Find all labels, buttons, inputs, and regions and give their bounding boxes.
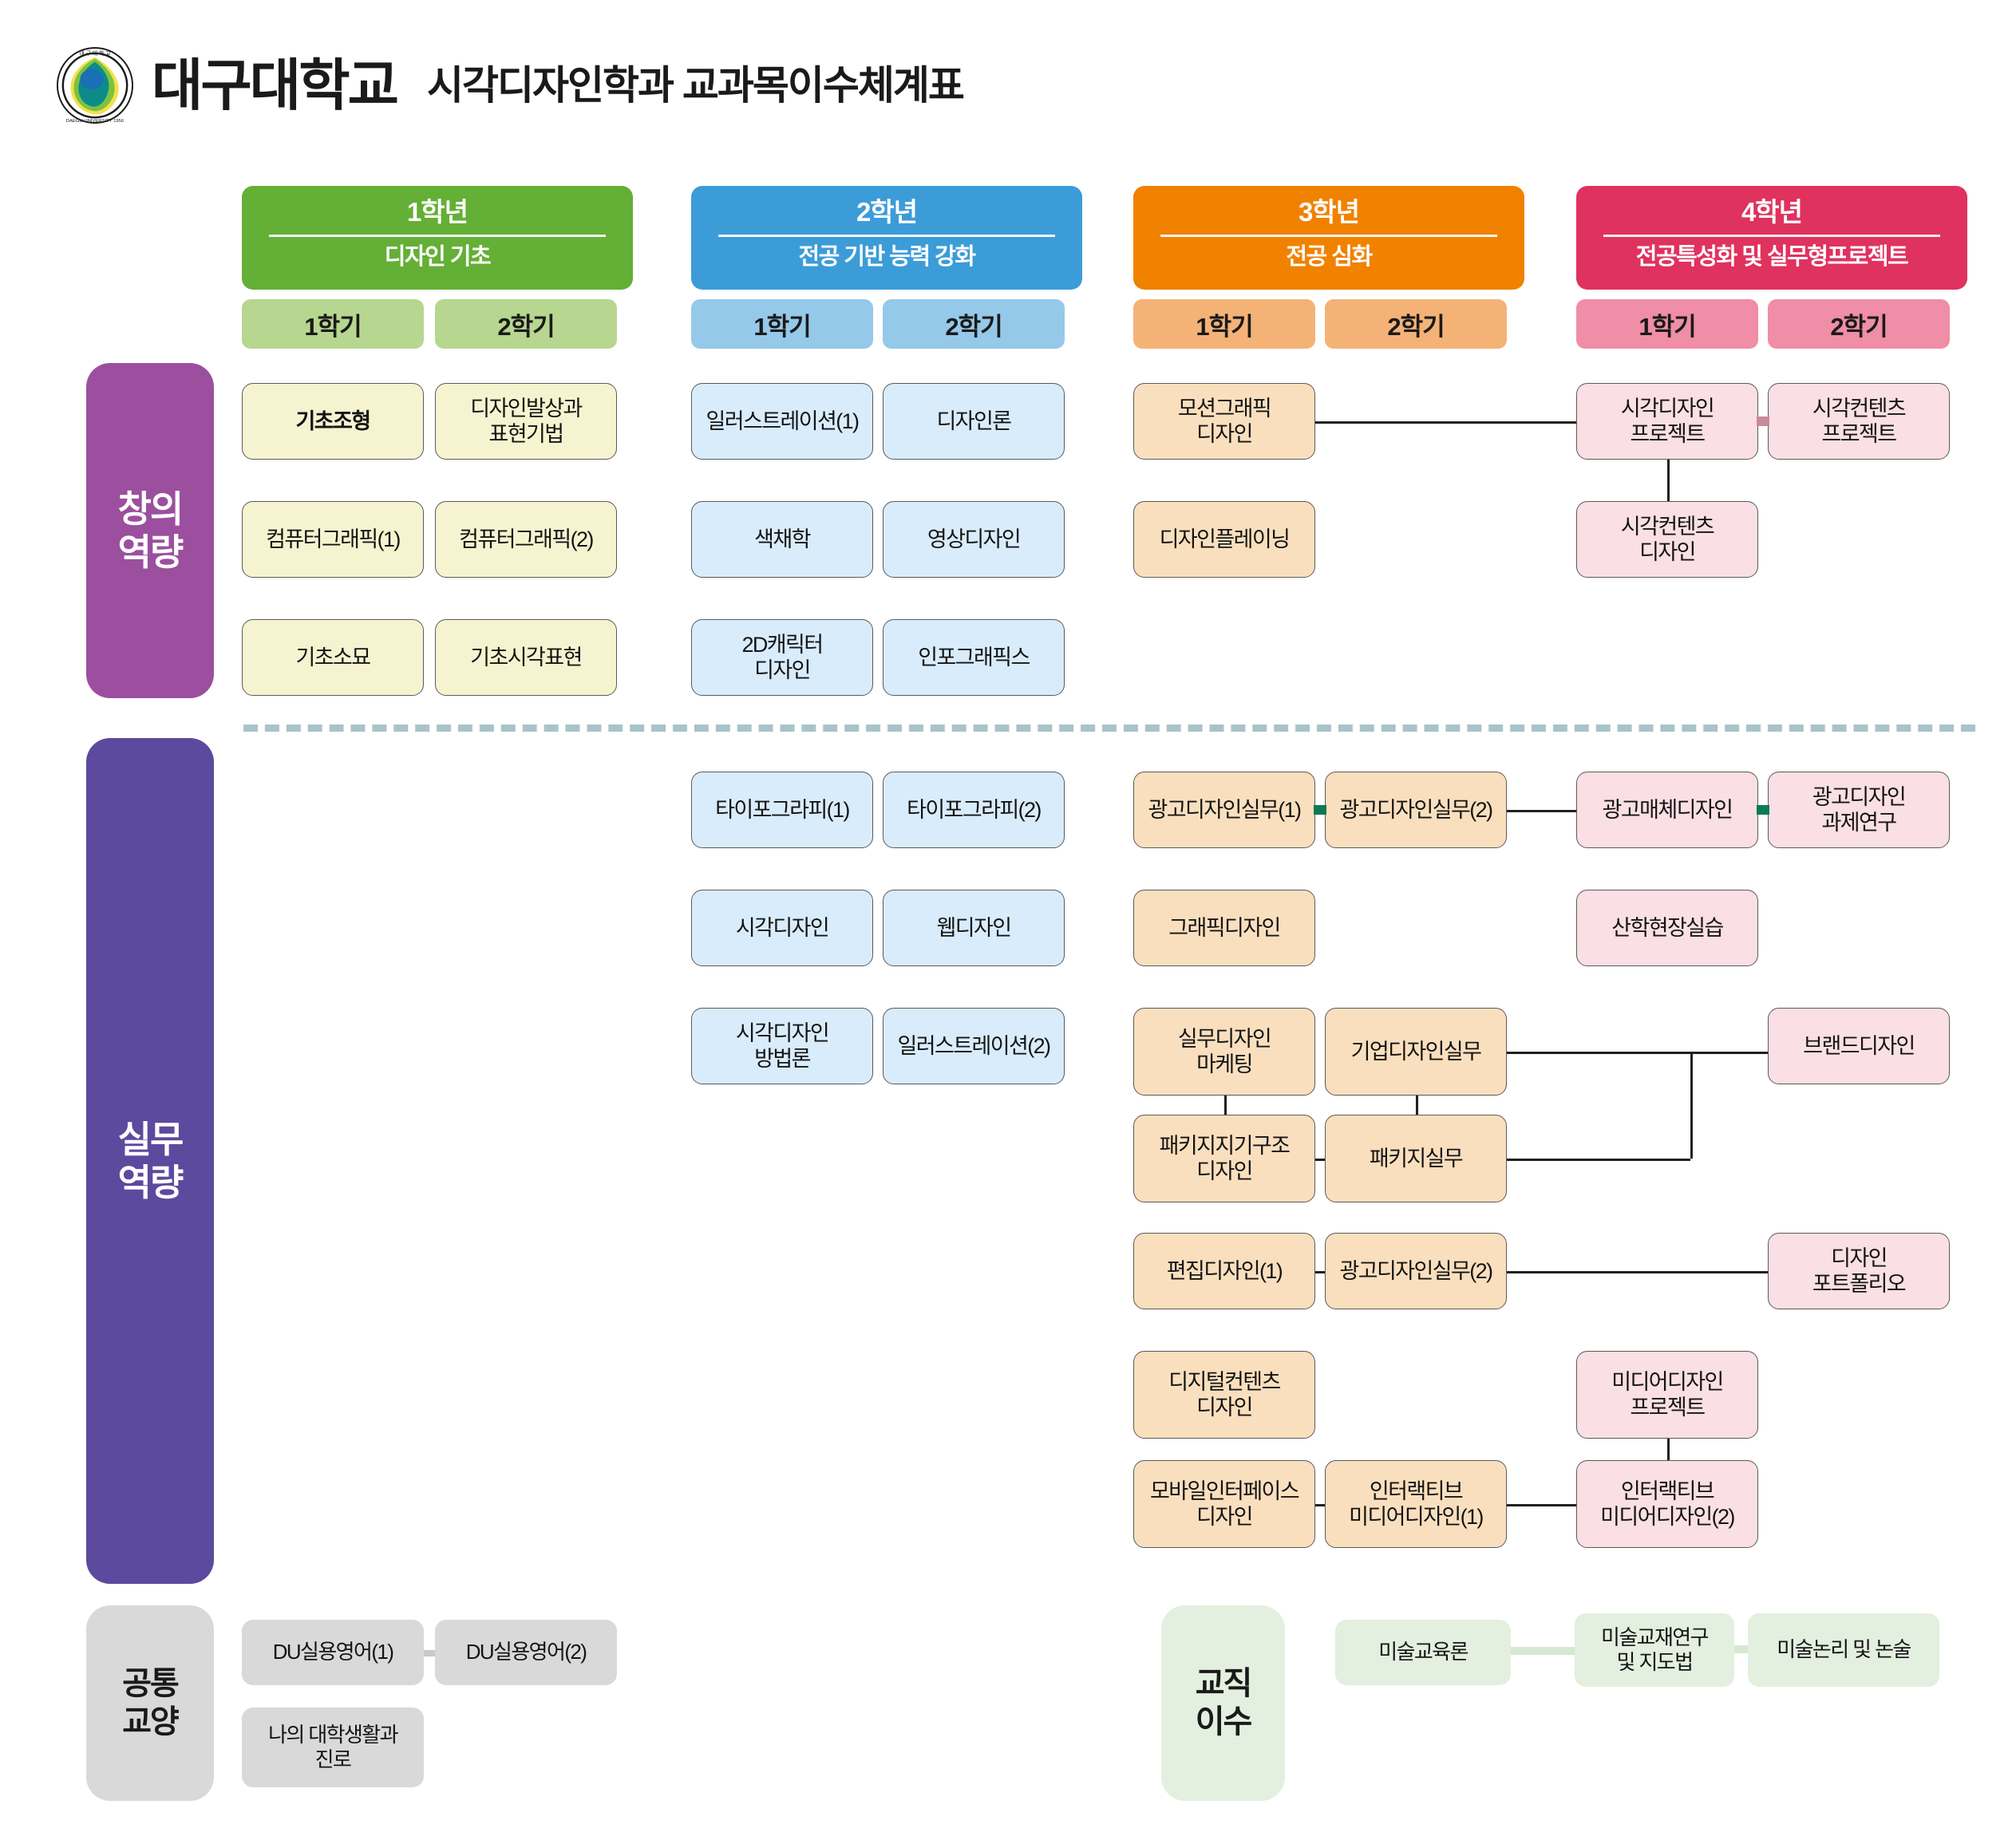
course-label: 타이포그라피(1) — [697, 797, 868, 823]
course-label: 디지털컨텐츠디자인 — [1139, 1369, 1310, 1421]
course-label: DU실용영어(1) — [247, 1640, 419, 1664]
course-label: 교직이수 — [1196, 1665, 1251, 1740]
year-header-3: 3학년전공 심화 — [1133, 186, 1524, 290]
course-label: 색채학 — [697, 527, 868, 552]
course-card-creative-y1s1-3[interactable]: 기초소묘 — [242, 619, 424, 696]
course-label: 일러스트레이션(2) — [888, 1033, 1059, 1059]
svg-text:대 구 대 학 교: 대 구 대 학 교 — [79, 49, 110, 57]
course-label: 모션그래픽디자인 — [1139, 396, 1310, 448]
course-label: 광고디자인실무(2) — [1330, 1258, 1501, 1284]
connector-stub — [424, 1650, 435, 1656]
course-label: 편집디자인(1) — [1139, 1258, 1310, 1284]
competency-sidebar-common: 공통교양 — [86, 1605, 214, 1801]
course-label: 광고디자인과제연구 — [1773, 784, 1944, 836]
course-card-practical-y2s2-3[interactable]: 일러스트레이션(2) — [883, 1008, 1065, 1084]
course-label: 실무디자인마케팅 — [1139, 1026, 1310, 1078]
course-card-practical-y2s1-2[interactable]: 시각디자인 — [691, 890, 873, 966]
course-label: 패키지실무 — [1330, 1146, 1501, 1171]
year-description: 전공 기반 능력 강화 — [691, 244, 1082, 270]
course-label: 실무역량 — [118, 1118, 183, 1205]
svg-text:DAEGU UNIVERSITY 1956: DAEGU UNIVERSITY 1956 — [66, 119, 125, 124]
course-card-practical-y3s1-6[interactable]: 디지털컨텐츠디자인 — [1133, 1351, 1315, 1439]
course-card-practical-y4s2-1[interactable]: 광고디자인과제연구 — [1768, 772, 1950, 848]
course-label: 광고매체디자인 — [1582, 797, 1753, 823]
connector-stub — [1757, 805, 1769, 815]
year-label: 2학년 — [691, 197, 1082, 227]
course-card-practical-y3s2-1[interactable]: 광고디자인실무(2) — [1325, 772, 1507, 848]
course-label: 2D캐릭터디자인 — [697, 632, 868, 684]
course-card-practical-y3s2-4[interactable]: 광고디자인실무(2) — [1325, 1233, 1507, 1309]
semester-chip-y3-s2[interactable]: 2학기 — [1325, 299, 1507, 349]
course-label: 광고디자인실무(2) — [1330, 797, 1501, 823]
year-divider — [718, 235, 1055, 237]
course-label: 그래픽디자인 — [1139, 915, 1310, 941]
course-label: 기초시각표현 — [441, 645, 611, 670]
course-label: 시각컨텐츠프로젝트 — [1773, 396, 1944, 448]
course-label: 창의역량 — [118, 488, 183, 574]
competency-sidebar-teaching: 교직이수 — [1161, 1605, 1285, 1801]
course-label: 미술교재연구및 지도법 — [1579, 1625, 1729, 1675]
connector-stub — [1734, 1645, 1748, 1653]
connector-line — [1315, 421, 1576, 424]
course-card-creative-y1s2-1[interactable]: 디자인발상과표현기법 — [435, 383, 617, 460]
course-label: 산학현장실습 — [1582, 915, 1753, 941]
course-label: 나의 대학생활과진로 — [247, 1723, 419, 1772]
connector-stub — [1511, 1647, 1575, 1655]
course-label: 시각디자인방법론 — [697, 1021, 868, 1072]
year-header-4: 4학년전공특성화 및 실무형프로젝트 — [1576, 186, 1967, 290]
course-card-practical-y4s1-2[interactable]: 산학현장실습 — [1576, 890, 1758, 966]
course-card-creative-y1s2-2[interactable]: 컴퓨터그래픽(2) — [435, 501, 617, 578]
course-card-practical-y4s1-4[interactable]: 인터랙티브미디어디자인(2) — [1576, 1460, 1758, 1548]
course-label: 모바일인터페이스디자인 — [1139, 1479, 1310, 1530]
course-card-creative-y2s2-3[interactable]: 인포그래픽스 — [883, 619, 1065, 696]
course-card-creative-y2s2-1[interactable]: 디자인론 — [883, 383, 1065, 460]
semester-chip-y2-s2[interactable]: 2학기 — [883, 299, 1065, 349]
connector-line — [1507, 1504, 1576, 1506]
connector-line — [1507, 1159, 1690, 1161]
course-card-creative-y1s1-2[interactable]: 컴퓨터그래픽(1) — [242, 501, 424, 578]
course-label: 디자인포트폴리오 — [1773, 1246, 1944, 1297]
connector-line — [1507, 810, 1576, 812]
course-label: 컴퓨터그래픽(1) — [247, 527, 418, 552]
semester-chip-y1-s2[interactable]: 2학기 — [435, 299, 617, 349]
course-label: 패키지지기구조디자인 — [1139, 1133, 1310, 1185]
university-name: 대구대학교 — [152, 57, 397, 113]
course-card-creative-y1s2-3[interactable]: 기초시각표현 — [435, 619, 617, 696]
course-card-practical-y4s2-2[interactable]: 브랜드디자인 — [1768, 1008, 1950, 1084]
course-card-common-3[interactable]: 나의 대학생활과진로 — [242, 1708, 424, 1787]
connector-line — [1315, 1504, 1325, 1506]
course-card-creative-y2s1-2[interactable]: 색채학 — [691, 501, 873, 578]
year-header-2: 2학년전공 기반 능력 강화 — [691, 186, 1082, 290]
connector-line — [1315, 1159, 1325, 1161]
year-divider — [269, 235, 606, 237]
semester-chip-y3-s1[interactable]: 1학기 — [1133, 299, 1315, 349]
course-card-practical-y3s1-3[interactable]: 실무디자인마케팅 — [1133, 1008, 1315, 1096]
course-card-practical-y3s2-2[interactable]: 기업디자인실무 — [1325, 1008, 1507, 1096]
course-card-creative-y2s1-3[interactable]: 2D캐릭터디자인 — [691, 619, 873, 696]
course-card-practical-y3s1-1[interactable]: 광고디자인실무(1) — [1133, 772, 1315, 848]
daegu-university-emblem-icon: 대 구 대 학 교 DAEGU UNIVERSITY 1956 — [56, 46, 134, 124]
page-title: 시각디자인학과 교과목이수체계표 — [427, 65, 963, 105]
connector-line — [1507, 1271, 1768, 1273]
course-label: 광고디자인실무(1) — [1139, 797, 1310, 823]
course-card-creative-y4s2-1[interactable]: 시각컨텐츠프로젝트 — [1768, 383, 1950, 460]
course-label: 브랜드디자인 — [1773, 1033, 1944, 1059]
course-label: 인터랙티브미디어디자인(2) — [1582, 1479, 1753, 1530]
semester-chip-y2-s1[interactable]: 1학기 — [691, 299, 873, 349]
year-label: 3학년 — [1133, 197, 1524, 227]
course-card-practical-y3s1-4[interactable]: 패키지지기구조디자인 — [1133, 1115, 1315, 1202]
connector-line — [1315, 1271, 1325, 1273]
course-label: 타이포그라피(2) — [888, 797, 1059, 823]
course-label: DU실용영어(2) — [440, 1640, 612, 1664]
course-label: 웹디자인 — [888, 915, 1059, 941]
course-label: 디자인플레이닝 — [1139, 527, 1310, 552]
course-card-creative-y2s2-2[interactable]: 영상디자인 — [883, 501, 1065, 578]
course-label: 시각컨텐츠디자인 — [1582, 514, 1753, 566]
course-card-practical-y4s1-3[interactable]: 미디어디자인프로젝트 — [1576, 1351, 1758, 1439]
semester-chip-y4-s2[interactable]: 2학기 — [1768, 299, 1950, 349]
semester-chip-y1-s1[interactable]: 1학기 — [242, 299, 424, 349]
course-label: 미술교육론 — [1340, 1640, 1506, 1664]
course-card-creative-y3s1-1[interactable]: 모션그래픽디자인 — [1133, 383, 1315, 460]
course-card-practical-y3s1-5[interactable]: 편집디자인(1) — [1133, 1233, 1315, 1309]
connector-line — [1690, 1052, 1693, 1159]
course-label: 기초소묘 — [247, 645, 418, 670]
course-card-creative-y4s1-1[interactable]: 시각디자인프로젝트 — [1576, 383, 1758, 460]
course-label: 컴퓨터그래픽(2) — [441, 527, 611, 552]
year-label: 4학년 — [1576, 197, 1967, 227]
course-card-creative-y2s1-1[interactable]: 일러스트레이션(1) — [691, 383, 873, 460]
year-description: 디자인 기초 — [242, 244, 633, 270]
course-card-practical-y2s1-1[interactable]: 타이포그라피(1) — [691, 772, 873, 848]
connector-line — [1667, 460, 1670, 501]
course-card-practical-y3s2-3[interactable]: 패키지실무 — [1325, 1115, 1507, 1202]
course-card-practical-y2s1-3[interactable]: 시각디자인방법론 — [691, 1008, 873, 1084]
course-label: 영상디자인 — [888, 527, 1059, 552]
course-label: 기초조형 — [247, 409, 418, 434]
year-divider — [1160, 235, 1497, 237]
course-card-creative-y1s1-1[interactable]: 기초조형 — [242, 383, 424, 460]
course-card-practical-y4s2-3[interactable]: 디자인포트폴리오 — [1768, 1233, 1950, 1309]
course-label: 디자인발상과표현기법 — [441, 396, 611, 448]
course-label: 미디어디자인프로젝트 — [1582, 1369, 1753, 1421]
course-label: 시각디자인 — [697, 915, 868, 941]
course-card-practical-y3s1-7[interactable]: 모바일인터페이스디자인 — [1133, 1460, 1315, 1548]
connector-line — [1224, 1096, 1227, 1115]
course-card-practical-y3s1-2[interactable]: 그래픽디자인 — [1133, 890, 1315, 966]
connector-line — [1507, 1052, 1768, 1054]
semester-chip-y4-s1[interactable]: 1학기 — [1576, 299, 1758, 349]
course-label: 인포그래픽스 — [888, 645, 1059, 670]
course-card-common-1[interactable]: DU실용영어(1) — [242, 1620, 424, 1685]
course-card-practical-y2s2-2[interactable]: 웹디자인 — [883, 890, 1065, 966]
course-card-common-2[interactable]: DU실용영어(2) — [435, 1620, 617, 1685]
course-label: 시각디자인프로젝트 — [1582, 396, 1753, 448]
course-label: 디자인론 — [888, 409, 1059, 434]
year-header-1: 1학년디자인 기초 — [242, 186, 633, 290]
connector-line — [1667, 1439, 1670, 1460]
course-card-creative-y3s1-2[interactable]: 디자인플레이닝 — [1133, 501, 1315, 578]
year-divider — [1603, 235, 1940, 237]
year-description: 전공 심화 — [1133, 244, 1524, 270]
connector-stub — [1314, 805, 1326, 815]
year-label: 1학년 — [242, 197, 633, 227]
course-card-teaching-1[interactable]: 미술교육론 — [1335, 1620, 1511, 1685]
course-label: 인터랙티브미디어디자인(1) — [1330, 1479, 1501, 1530]
course-card-practical-y4s1-1[interactable]: 광고매체디자인 — [1576, 772, 1758, 848]
course-label: 공통교양 — [122, 1665, 178, 1740]
course-card-practical-y3s2-5[interactable]: 인터랙티브미디어디자인(1) — [1325, 1460, 1507, 1548]
course-card-practical-y2s2-1[interactable]: 타이포그라피(2) — [883, 772, 1065, 848]
course-label: 미술논리 및 논술 — [1753, 1637, 1935, 1662]
competency-sidebar-practical: 실무역량 — [86, 738, 214, 1584]
course-card-teaching-3[interactable]: 미술논리 및 논술 — [1748, 1613, 1939, 1687]
course-label: 기업디자인실무 — [1330, 1039, 1501, 1064]
course-card-teaching-2[interactable]: 미술교재연구및 지도법 — [1575, 1613, 1734, 1687]
competency-sidebar-creative: 창의역량 — [86, 363, 214, 698]
section-divider — [243, 725, 1975, 732]
course-label: 일러스트레이션(1) — [697, 409, 868, 434]
connector-line — [1416, 1096, 1418, 1115]
connector-stub — [1757, 417, 1769, 426]
course-card-creative-y4s1-2[interactable]: 시각컨텐츠디자인 — [1576, 501, 1758, 578]
page-header: 대 구 대 학 교 DAEGU UNIVERSITY 1956 대구대학교 시각… — [56, 46, 963, 124]
year-description: 전공특성화 및 실무형프로젝트 — [1576, 244, 1967, 270]
